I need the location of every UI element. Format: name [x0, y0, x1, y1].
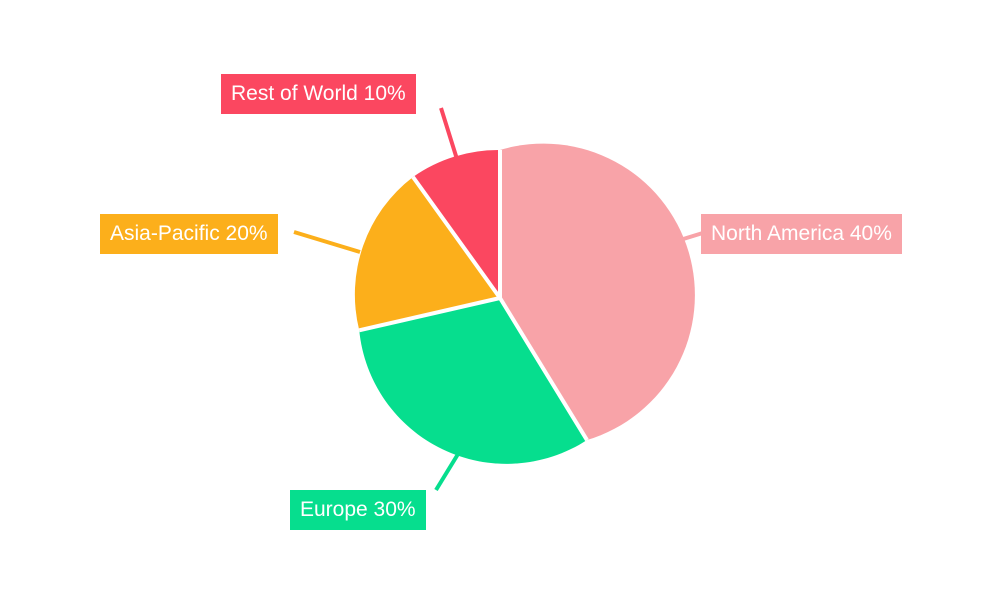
pie-label-rest-of-world[interactable]: Rest of World 10% [221, 74, 416, 114]
pie-slices [355, 144, 695, 464]
pie-label-north-america[interactable]: North America 40% [701, 214, 902, 254]
pie-label-north-america-text: North America 40% [711, 222, 892, 245]
pie-chart: Rest of World 10% Asia-Pacific 20% North… [0, 0, 1000, 600]
pie-label-europe[interactable]: Europe 30% [290, 490, 426, 530]
pie-label-europe-text: Europe 30% [300, 498, 416, 521]
pie-label-asia-pacific[interactable]: Asia-Pacific 20% [100, 214, 278, 254]
pie-label-rest-of-world-text: Rest of World 10% [231, 82, 406, 105]
pie-label-asia-pacific-text: Asia-Pacific 20% [110, 222, 268, 245]
pie-chart-canvas [0, 0, 1000, 600]
leader-line-asia-pacific [294, 232, 360, 252]
